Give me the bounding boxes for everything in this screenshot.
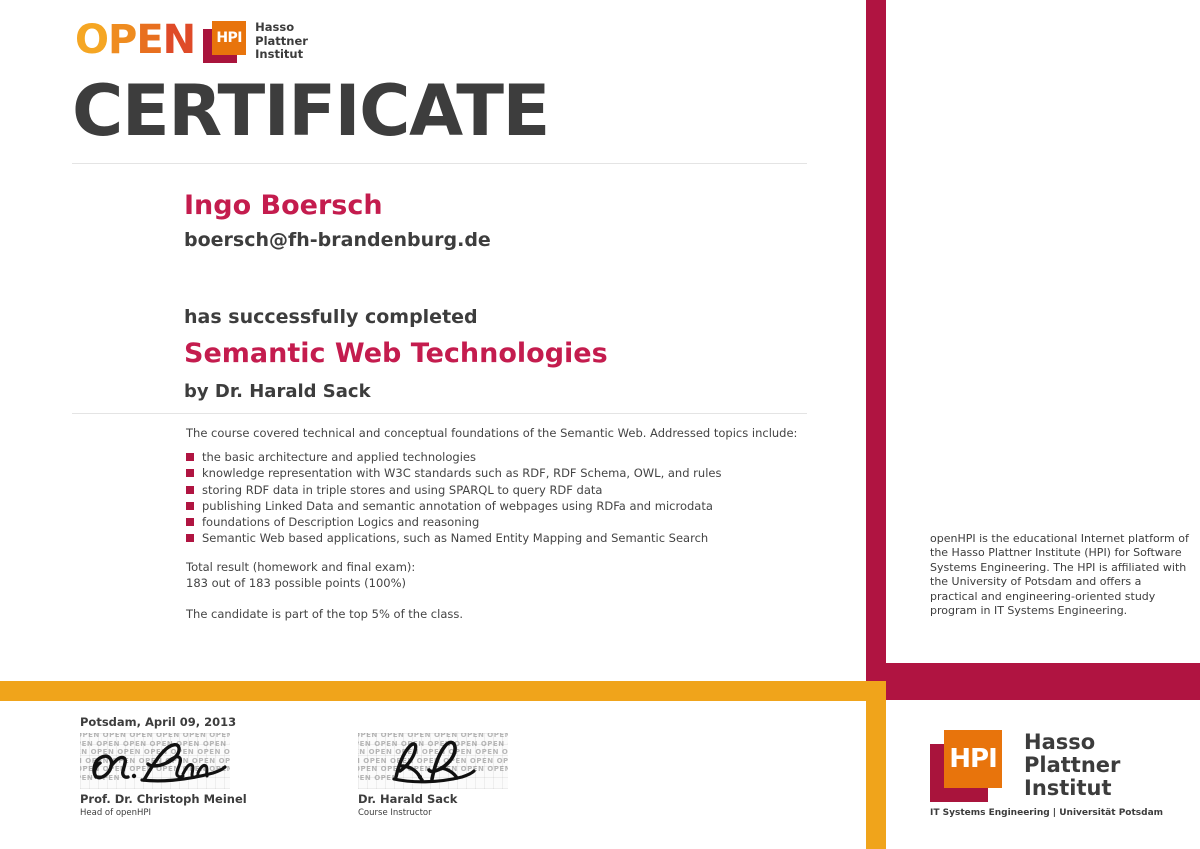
recipient-name: Ingo Boersch <box>184 190 383 222</box>
list-item: foundations of Description Logics and re… <box>186 514 826 530</box>
signature-name: Dr. Harald Sack <box>358 791 508 807</box>
signature-block-meinel: Potsdam, April 09, 2013 OPEN OPEN OPEN O… <box>80 714 247 819</box>
red-vertical-bar <box>866 0 886 700</box>
course-instructor: by Dr. Harald Sack <box>184 380 371 403</box>
orange-vertical-bar <box>866 681 886 849</box>
hpi-word-hasso: Hasso <box>1024 731 1120 754</box>
result-ranking: The candidate is part of the top 5% of t… <box>186 607 686 623</box>
signature-image: OPEN OPEN OPEN OPEN OPEN OPEN OPEN OPEN … <box>358 733 508 789</box>
result-total-label: Total result (homework and final exam): <box>186 560 686 576</box>
signature-ink-sack <box>358 733 508 789</box>
list-item: knowledge representation with W3C standa… <box>186 465 826 481</box>
bullet-square-icon <box>186 534 194 542</box>
bullet-square-icon <box>186 469 194 477</box>
list-item: storing RDF data in triple stores and us… <box>186 482 826 498</box>
topic-label: knowledge representation with W3C standa… <box>202 466 721 480</box>
signature-role: Head of openHPI <box>80 807 247 819</box>
signature-block-sack: OPEN OPEN OPEN OPEN OPEN OPEN OPEN OPEN … <box>358 714 508 819</box>
certificate-page: OPEN HPI Hasso Plattner Institut CERTIFI… <box>0 0 1200 849</box>
result-points: 183 out of 183 possible points (100%) <box>186 576 686 592</box>
topic-label: the basic architecture and applied techn… <box>202 450 476 464</box>
hpi-footer-logo-row: HPI Hasso Plattner Institut <box>930 730 1163 802</box>
hpi-word-institut: Institut <box>255 48 308 62</box>
topic-list: the basic architecture and applied techn… <box>186 449 826 547</box>
hpi-mark-label: HPI <box>212 21 246 55</box>
topic-label: storing RDF data in triple stores and us… <box>202 483 602 497</box>
open-wordmark: OPEN <box>75 18 195 62</box>
signature-image: OPEN OPEN OPEN OPEN OPEN OPEN OPEN OPEN … <box>80 733 230 789</box>
bullet-square-icon <box>186 486 194 494</box>
course-description-block: The course covered technical and concept… <box>186 426 826 547</box>
hpi-mark-icon: HPI <box>930 730 1016 802</box>
open-letter-o: O <box>75 18 108 62</box>
hpi-word-plattner: Plattner <box>255 35 308 49</box>
result-block: Total result (homework and final exam): … <box>186 560 686 622</box>
signature-role: Course Instructor <box>358 807 508 819</box>
bullet-square-icon <box>186 502 194 510</box>
page-title: CERTIFICATE <box>72 74 549 148</box>
hpi-mark-icon: HPI <box>203 21 249 63</box>
bullet-square-icon <box>186 518 194 526</box>
list-item: the basic architecture and applied techn… <box>186 449 826 465</box>
hpi-word-institut: Institut <box>1024 777 1120 800</box>
recipient-email: boersch@fh-brandenburg.de <box>184 228 491 252</box>
divider-top <box>72 163 807 164</box>
signature-date <box>358 714 508 730</box>
openhpi-logo: OPEN HPI Hasso Plattner Institut <box>75 18 308 74</box>
open-letter-n: N <box>163 18 195 62</box>
red-horizontal-bar <box>866 663 1200 700</box>
topic-label: publishing Linked Data and semantic anno… <box>202 499 713 513</box>
about-openhpi-text: openHPI is the educational Internet plat… <box>930 532 1192 618</box>
bullet-square-icon <box>186 453 194 461</box>
result-spacer <box>186 592 686 607</box>
completion-label: has successfully completed <box>184 305 478 329</box>
orange-horizontal-bar <box>0 681 886 701</box>
hpi-mark-label: HPI <box>944 730 1002 788</box>
topic-label: Semantic Web based applications, such as… <box>202 531 708 545</box>
hpi-footer-tagline: IT Systems Engineering | Universität Pot… <box>930 807 1163 819</box>
divider-middle <box>72 413 807 414</box>
topic-label: foundations of Description Logics and re… <box>202 515 479 529</box>
list-item: Semantic Web based applications, such as… <box>186 530 826 546</box>
hpi-footer-logo: HPI Hasso Plattner Institut IT Systems E… <box>930 730 1163 819</box>
list-item: publishing Linked Data and semantic anno… <box>186 498 826 514</box>
hpi-word-plattner: Plattner <box>1024 754 1120 777</box>
signature-ink-meinel <box>80 733 230 789</box>
signature-date: Potsdam, April 09, 2013 <box>80 714 247 730</box>
course-description-intro: The course covered technical and concept… <box>186 426 826 441</box>
hpi-word-hasso: Hasso <box>255 21 308 35</box>
hpi-footer-wordmark: Hasso Plattner Institut <box>1024 730 1120 800</box>
course-title: Semantic Web Technologies <box>184 337 608 371</box>
open-letter-p: P <box>108 18 136 62</box>
signature-name: Prof. Dr. Christoph Meinel <box>80 791 247 807</box>
open-letter-e: E <box>136 18 162 62</box>
hpi-wordmark: Hasso Plattner Institut <box>255 21 308 62</box>
